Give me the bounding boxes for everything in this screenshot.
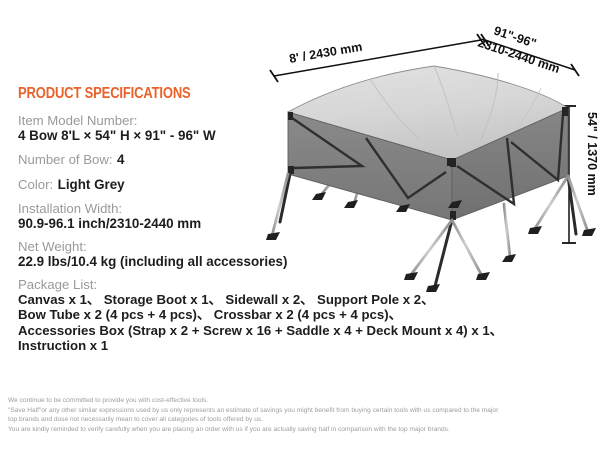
spec-row-net-weight: Net Weight: 22.9 lbs/10.4 kg (including … [18,239,488,270]
spec-row-installation-width: Installation Width: 90.9-96.1 inch/2310-… [18,201,488,232]
package-list-line: Instruction x 1 [18,338,488,354]
spec-row-package-list: Package List: Canvas x 1、 Storage Boot x… [18,277,488,354]
spec-row-color: Color: Light Grey [18,176,488,194]
page-title: PRODUCT SPECIFICATIONS [18,86,413,102]
package-list-line: Accessories Box (Strap x 2 + Screw x 16 … [18,323,488,339]
package-list-line: Canvas x 1、 Storage Boot x 1、 Sidewall x… [18,292,488,308]
disclaimer-line: top brands and dose not necessarily mean… [8,415,596,425]
spec-value: 22.9 lbs/10.4 kg (including all accessor… [18,254,488,270]
disclaimer-line: "Save Half"or any other similar expressi… [8,406,596,416]
spec-label: Color: [18,177,53,192]
spec-row-item-model-number: Item Model Number: 4 Bow 8'L × 54" H × 9… [18,113,488,144]
spec-value: 4 Bow 8'L × 54" H × 91" - 96" W [18,128,488,144]
spec-label: Item Model Number: [18,113,488,128]
dimension-height-label: 54" / 1370 mm [585,112,599,196]
package-list-line: Bow Tube x 2 (4 pcs + 4 pcs)、 Crossbar x… [18,307,488,323]
disclaimer-text: We continue to be committed to provide y… [8,396,596,434]
spec-label: Installation Width: [18,201,488,216]
package-list-lines: Canvas x 1、 Storage Boot x 1、 Sidewall x… [18,292,488,354]
dimension-width: 91"-96" 2310-2440 mm [476,24,579,76]
spec-label: Number of Bow: [18,152,113,167]
disclaimer-line: You are kindly reminded to verify carefu… [8,425,596,435]
spec-row-number-of-bow: Number of Bow: 4 [18,151,488,169]
disclaimer-line: We continue to be committed to provide y… [8,396,596,406]
spec-value: 4 [117,152,124,167]
spec-label: Package List: [18,277,488,292]
spec-value: 90.9-96.1 inch/2310-2440 mm [18,216,488,232]
spec-value: Light Grey [58,177,125,192]
spec-label: Net Weight: [18,239,488,254]
product-specifications-panel: PRODUCT SPECIFICATIONS Item Model Number… [18,86,488,354]
